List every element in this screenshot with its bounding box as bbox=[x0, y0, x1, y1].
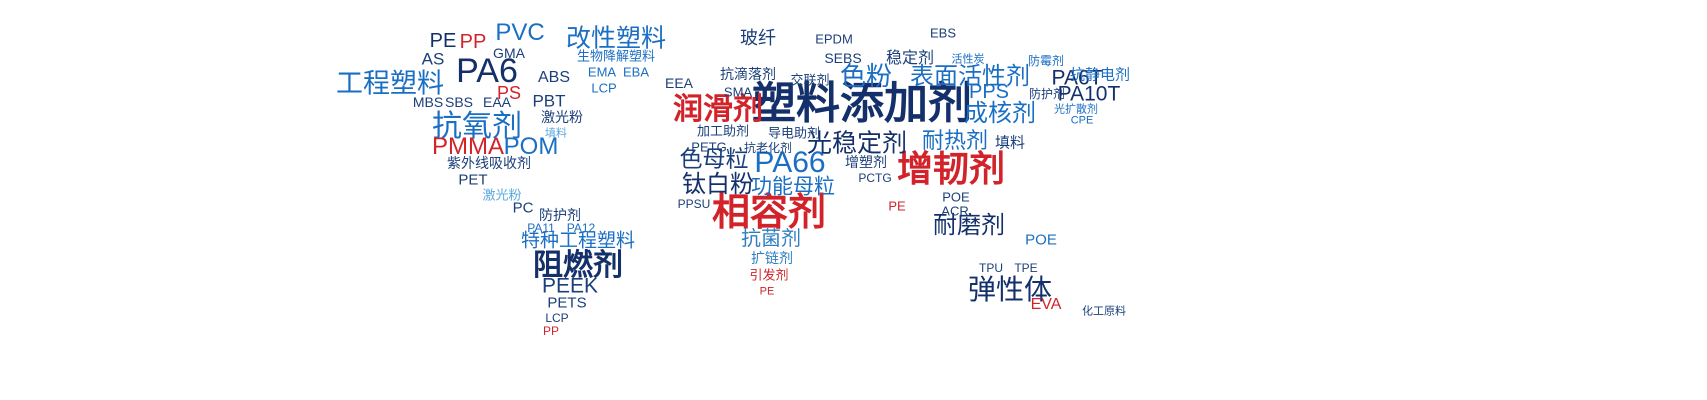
word-cloud-term[interactable]: PP bbox=[460, 32, 487, 52]
word-cloud-term[interactable]: 稳定剂 bbox=[886, 50, 934, 66]
word-cloud-term[interactable]: 抗滴落剂 bbox=[720, 68, 776, 82]
word-cloud-term[interactable]: PETS bbox=[547, 296, 586, 311]
word-cloud-term[interactable]: EMA bbox=[588, 66, 616, 79]
word-cloud-term[interactable]: 功能母粒 bbox=[751, 177, 835, 198]
word-cloud-term[interactable]: 润滑剂 bbox=[673, 95, 763, 125]
word-cloud-term[interactable]: LCP bbox=[545, 312, 568, 324]
word-cloud-term[interactable]: PEEK bbox=[542, 276, 598, 297]
word-cloud-term[interactable]: 耐热剂 bbox=[922, 131, 988, 153]
word-cloud-term[interactable]: 抗老化剂 bbox=[744, 142, 792, 154]
word-cloud-term[interactable]: EBA bbox=[623, 66, 649, 79]
word-cloud-term[interactable]: EBS bbox=[930, 27, 956, 40]
word-cloud-term[interactable]: PE bbox=[430, 31, 457, 51]
word-cloud-term[interactable]: 加工助剂 bbox=[697, 126, 749, 139]
word-cloud-term[interactable]: PETG bbox=[691, 141, 726, 154]
word-cloud-term[interactable]: POE bbox=[1025, 233, 1057, 248]
word-cloud-term[interactable]: PPS bbox=[969, 82, 1009, 102]
word-cloud-term[interactable]: 扩链剂 bbox=[751, 252, 793, 266]
word-cloud-term[interactable]: 防护剂 bbox=[1029, 88, 1065, 100]
word-cloud-term[interactable]: 活性炭 bbox=[952, 54, 985, 65]
word-cloud-term[interactable]: 钛白粉 bbox=[682, 172, 754, 196]
word-cloud-term[interactable]: CPE bbox=[1071, 116, 1094, 127]
word-cloud-term[interactable]: PC bbox=[513, 201, 534, 216]
word-cloud-term[interactable]: PA12 bbox=[567, 222, 595, 234]
word-cloud-term[interactable]: 防霉剂 bbox=[1028, 55, 1064, 67]
word-cloud-term[interactable]: GMA bbox=[493, 46, 525, 60]
word-cloud-term[interactable]: ABS bbox=[538, 70, 570, 86]
word-cloud-term[interactable]: 化工原料 bbox=[1082, 306, 1126, 317]
word-cloud-term[interactable]: PBT bbox=[532, 93, 565, 110]
word-cloud-canvas: 塑料添加剂相容剂增韧剂阻燃剂润滑剂抗氧剂工程塑料PA6PA66弹性体光稳定剂表面… bbox=[0, 0, 1707, 400]
word-cloud-term[interactable]: POE bbox=[942, 191, 969, 204]
word-cloud-term[interactable]: PPSU bbox=[678, 198, 711, 210]
word-cloud-term[interactable]: EPDM bbox=[815, 33, 853, 46]
word-cloud-term[interactable]: SMA bbox=[724, 86, 752, 99]
word-cloud-term[interactable]: 生物降解塑料 bbox=[577, 51, 655, 64]
word-cloud-term[interactable]: 填料 bbox=[995, 136, 1025, 151]
word-cloud-term[interactable]: MBS bbox=[413, 95, 443, 109]
word-cloud-term[interactable]: SEBS bbox=[824, 51, 861, 65]
word-cloud-term[interactable]: 改性塑料 bbox=[566, 26, 666, 51]
word-cloud-term[interactable]: ACR bbox=[941, 205, 968, 218]
word-cloud-term[interactable]: PE bbox=[888, 200, 905, 213]
word-cloud-term[interactable]: 紫外线吸收剂 bbox=[447, 157, 531, 171]
word-cloud-term[interactable]: 增韧剂 bbox=[897, 152, 1005, 188]
word-cloud-term[interactable]: 导电助剂 bbox=[768, 128, 820, 141]
word-cloud-term[interactable]: AS bbox=[422, 51, 445, 68]
word-cloud-term[interactable]: LCP bbox=[591, 82, 616, 95]
word-cloud-term[interactable]: 光稳定剂 bbox=[807, 131, 907, 156]
word-cloud-term[interactable]: PET bbox=[458, 173, 487, 188]
word-cloud-term[interactable]: 抗菌剂 bbox=[741, 228, 801, 248]
word-cloud-term[interactable]: PP bbox=[543, 325, 559, 337]
word-cloud-term[interactable]: EAA bbox=[483, 95, 511, 109]
word-cloud-term[interactable]: 色粉 bbox=[840, 64, 892, 90]
word-cloud-term[interactable]: 激光粉 bbox=[541, 111, 583, 125]
word-cloud-term[interactable]: 光扩散剂 bbox=[1054, 104, 1098, 115]
word-cloud-term[interactable]: 引发剂 bbox=[749, 270, 788, 283]
word-cloud-term[interactable]: PVC bbox=[495, 21, 544, 45]
word-cloud-term[interactable]: 交联剂 bbox=[790, 75, 829, 88]
word-cloud-term[interactable]: 成核剂 bbox=[964, 101, 1036, 125]
word-cloud-term[interactable]: PCTG bbox=[858, 172, 891, 184]
word-cloud-term[interactable]: PA11 bbox=[527, 222, 555, 234]
word-cloud-term[interactable]: TPE bbox=[1014, 262, 1037, 274]
word-cloud-term[interactable]: PE bbox=[760, 287, 775, 298]
word-cloud-term[interactable]: SBS bbox=[445, 95, 473, 109]
word-cloud-term[interactable]: 增塑剂 bbox=[845, 156, 887, 170]
word-cloud-term[interactable]: EVA bbox=[1031, 297, 1062, 313]
word-cloud-term[interactable]: PA10T bbox=[1058, 84, 1121, 105]
word-cloud-term[interactable]: TPU bbox=[979, 262, 1003, 274]
word-cloud-term[interactable]: EEA bbox=[665, 76, 693, 90]
word-cloud-term[interactable]: 填料 bbox=[545, 128, 567, 139]
word-cloud-term[interactable]: 抗静电剂 bbox=[1070, 68, 1130, 83]
word-cloud-term[interactable]: 玻纤 bbox=[740, 30, 776, 48]
